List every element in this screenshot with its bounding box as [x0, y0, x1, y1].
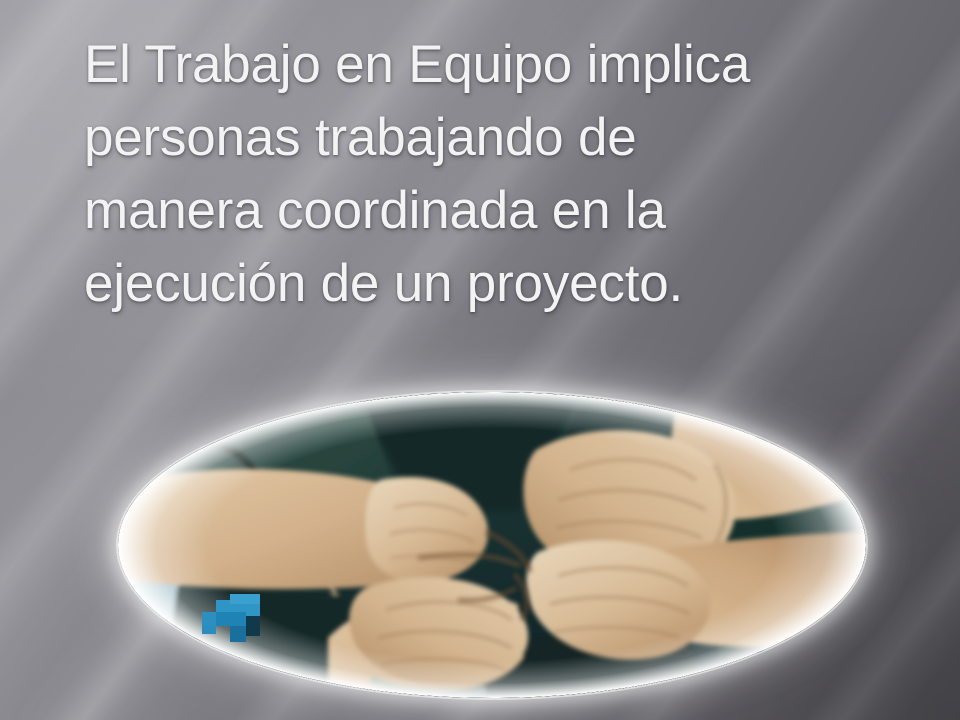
title-line-3: manera coordinada en la — [84, 174, 944, 247]
teamwork-photo-oval — [118, 392, 866, 698]
teamwork-photo-frame — [118, 392, 866, 698]
title-line-1: El Trabajo en Equipo implica — [84, 28, 944, 101]
blue-pixel-block-artifact — [202, 594, 288, 642]
slide-canvas: El Trabajo en Equipo implica personas tr… — [0, 0, 960, 720]
title-line-4: ejecución de un proyecto. — [84, 247, 944, 320]
title-line-2: personas trabajando de — [84, 101, 944, 174]
teamwork-photo-illustration — [118, 392, 866, 698]
slide-title: El Trabajo en Equipo implica personas tr… — [84, 28, 944, 320]
